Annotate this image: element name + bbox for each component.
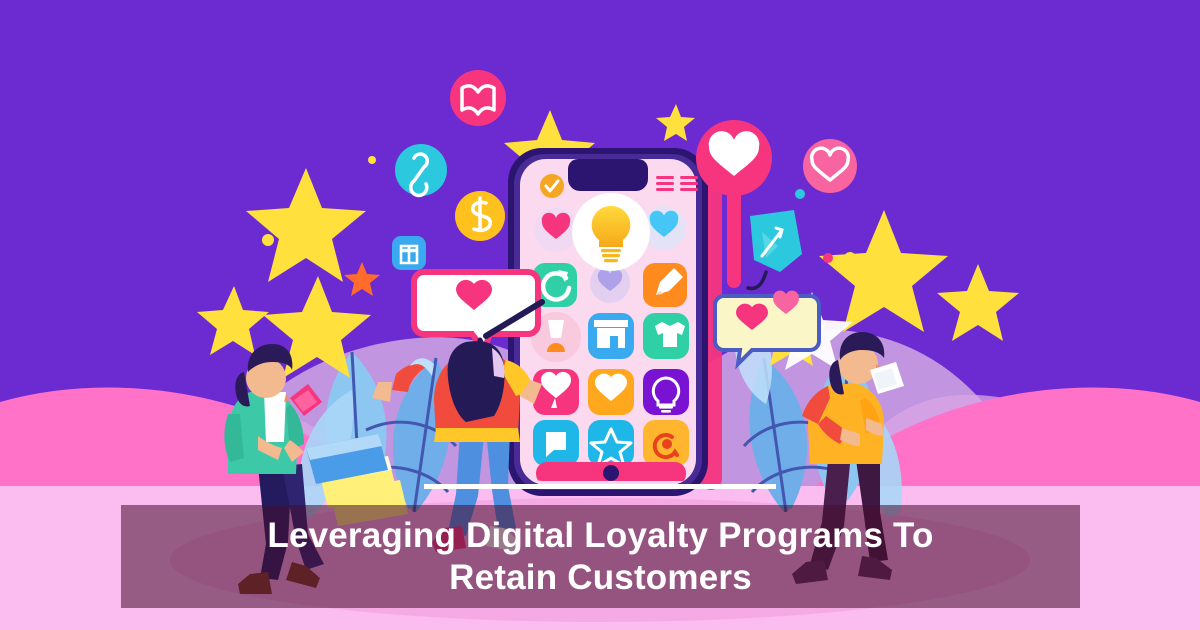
gift-badge (392, 236, 426, 270)
heart-badge (803, 139, 857, 193)
page-title: Leveraging Digital Loyalty Programs To R… (121, 515, 1080, 598)
coin-badge (455, 191, 505, 241)
title-overlay: Leveraging Digital Loyalty Programs To R… (121, 505, 1080, 608)
divider-line (424, 484, 776, 489)
check-badge-icon (540, 174, 564, 198)
tag-badge (395, 144, 447, 196)
phone-notch (568, 159, 648, 191)
banner-image: Leveraging Digital Loyalty Programs To R… (0, 0, 1200, 630)
book-badge (450, 70, 506, 126)
